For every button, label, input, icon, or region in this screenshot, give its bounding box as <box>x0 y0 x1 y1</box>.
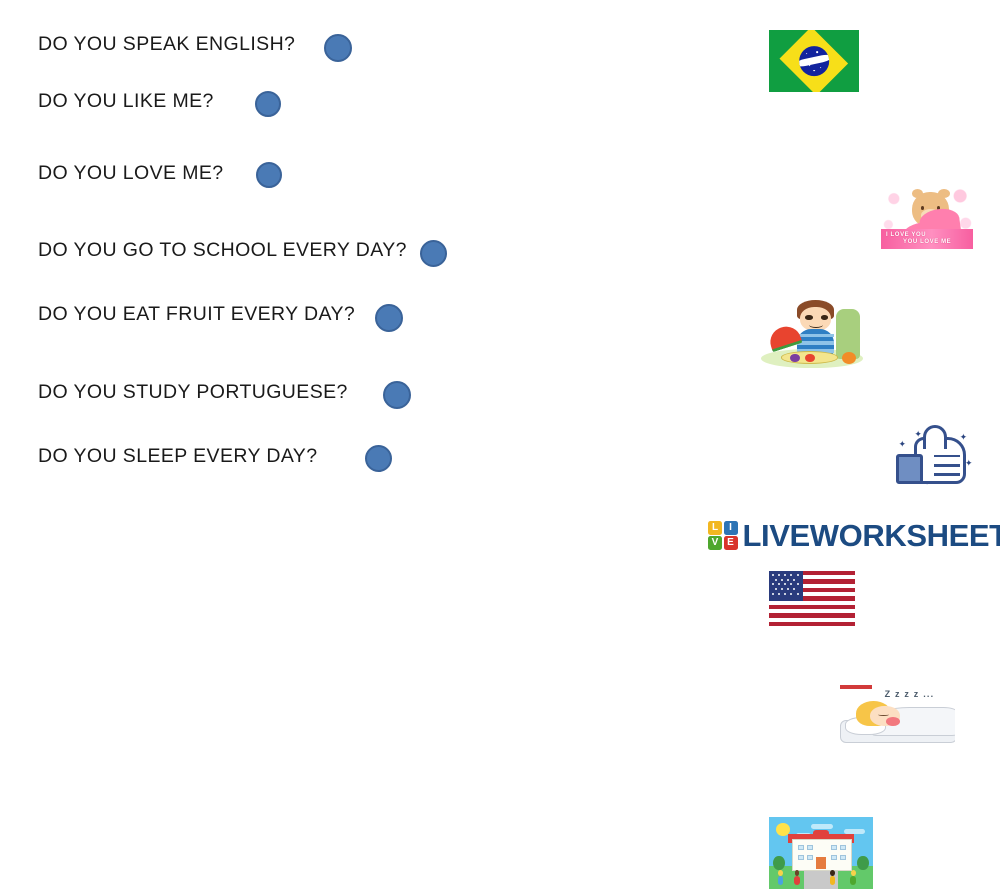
answer-dot-q6[interactable] <box>383 381 411 409</box>
school-door <box>816 857 826 869</box>
logo-tiles: L I V E <box>708 521 738 551</box>
logo-tile-e: E <box>724 536 738 550</box>
usa-flag-image[interactable] <box>769 571 855 626</box>
question-text: DO YOU SPEAK ENGLISH? <box>38 33 295 56</box>
question-text: DO YOU EAT FRUIT EVERY DAY? <box>38 303 355 326</box>
question-text: DO YOU GO TO SCHOOL EVERY DAY? <box>38 239 407 262</box>
sparkle-icon: ✦ <box>899 440 907 449</box>
question-row: DO YOU GO TO SCHOOL EVERY DAY? <box>38 239 407 262</box>
boy-eye <box>821 315 829 320</box>
question-text: DO YOU LIKE ME? <box>38 90 214 113</box>
love-card-line2: YOU LOVE ME <box>881 239 973 246</box>
answer-dot-q4[interactable] <box>420 240 447 267</box>
question-text: DO YOU LOVE ME? <box>38 162 224 185</box>
answer-dot-q1[interactable] <box>324 34 352 62</box>
question-row: DO YOU EAT FRUIT EVERY DAY? <box>38 303 355 326</box>
school-image[interactable] <box>769 817 873 889</box>
child-cheek <box>886 717 900 726</box>
logo-tile-l: L <box>708 521 722 535</box>
child-figure <box>829 870 835 884</box>
brazil-flag-globe <box>799 46 829 76</box>
question-row: DO YOU STUDY PORTUGUESE? <box>38 381 348 404</box>
thumbs-up-image[interactable]: ✦ ✦ ✦ ✦ ✦ <box>888 425 976 491</box>
sparkle-icon: ✦ <box>965 459 973 468</box>
answer-dot-q2[interactable] <box>255 91 281 117</box>
tree-icon <box>857 856 868 870</box>
child-figure <box>794 870 800 884</box>
question-text: DO YOU SLEEP EVERY DAY? <box>38 445 317 468</box>
question-row: DO YOU LOVE ME? <box>38 162 224 185</box>
image-top-bar <box>840 685 872 689</box>
love-card-banner: I LOVE YOU YOU LOVE ME <box>881 229 973 249</box>
thumbs-up-cuff <box>896 454 923 484</box>
question-row: DO YOU SLEEP EVERY DAY? <box>38 445 317 468</box>
brazil-flag-image[interactable] <box>769 30 859 92</box>
usa-flag-canton <box>769 571 803 601</box>
sparkle-icon: ✦ <box>960 433 968 442</box>
zzz-text: Z z z z ... <box>885 689 935 699</box>
logo-tile-v: V <box>708 536 722 550</box>
thumb-finger <box>923 425 947 449</box>
child-figure <box>850 870 856 884</box>
orange-icon <box>842 352 856 364</box>
tree-icon <box>773 856 784 870</box>
boy-eye <box>805 315 813 320</box>
child-figure <box>777 870 783 884</box>
sleeping-child-image[interactable]: Z z z z ... <box>840 685 955 747</box>
love-card-line1: I LOVE YOU <box>881 232 973 239</box>
question-text: DO YOU STUDY PORTUGUESE? <box>38 381 348 404</box>
worksheet-canvas: DO YOU SPEAK ENGLISH? DO YOU LIKE ME? DO… <box>0 0 1000 562</box>
logo-tile-i: I <box>724 521 738 535</box>
answer-dot-q3[interactable] <box>256 162 282 188</box>
liveworksheets-logo[interactable]: L I V E LIVEWORKSHEETS <box>708 520 1000 551</box>
answer-dot-q7[interactable] <box>365 445 392 472</box>
brazil-flag-band <box>799 54 829 68</box>
question-row: DO YOU LIKE ME? <box>38 90 214 113</box>
logo-wordmark: LIVEWORKSHEETS <box>743 520 1000 551</box>
answer-dot-q5[interactable] <box>375 304 403 332</box>
question-row: DO YOU SPEAK ENGLISH? <box>38 33 295 56</box>
boy-eating-fruit-image[interactable] <box>757 297 867 373</box>
love-card-image[interactable]: I LOVE YOU YOU LOVE ME <box>881 181 973 249</box>
